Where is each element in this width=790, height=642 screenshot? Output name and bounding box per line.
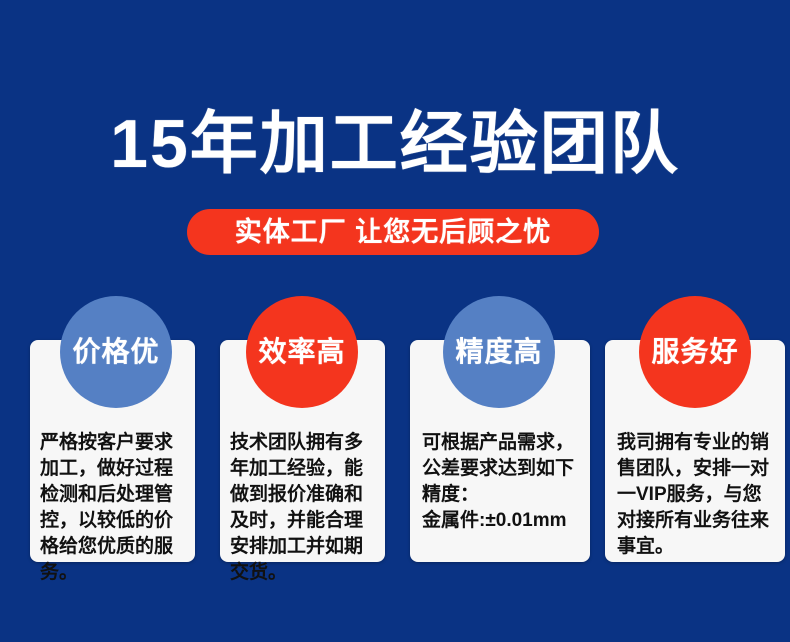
feature-card-body: 技术团队拥有多年加工经验，能做到报价准确和及时，并能合理安排加工并如期交货。 <box>230 430 375 586</box>
feature-card-badge-label: 精度高 <box>455 336 542 368</box>
feature-card-badge: 服务好 <box>639 296 751 408</box>
feature-card-badge: 效率高 <box>246 296 358 408</box>
feature-card-badge-label: 价格优 <box>72 336 159 368</box>
feature-card-body: 我司拥有专业的销售团队，安排一对一VIP服务，与您对接所有业务往来事宜。 <box>617 430 777 560</box>
feature-card-list: 严格按客户要求加工，做好过程检测和后处理管控，以较低的价格给您优质的服务。 价格… <box>0 296 790 576</box>
feature-card-badge-label: 效率高 <box>258 336 345 368</box>
feature-card-badge-label: 服务好 <box>651 336 738 368</box>
promo-banner: 15年加工经验团队 实体工厂 让您无后顾之忧 严格按客户要求加工，做好过程检测和… <box>0 0 790 642</box>
feature-card-body: 可根据产品需求，公差要求达到如下精度： 金属件:±0.01mm <box>422 430 582 534</box>
feature-card-badge: 价格优 <box>60 296 172 408</box>
subheadline-pill: 实体工厂 让您无后顾之忧 <box>187 209 599 255</box>
page-title: 15年加工经验团队 <box>0 104 790 184</box>
subheadline-text: 实体工厂 让您无后顾之忧 <box>235 217 552 247</box>
feature-card-body: 严格按客户要求加工，做好过程检测和后处理管控，以较低的价格给您优质的服务。 <box>40 430 185 586</box>
feature-card-badge: 精度高 <box>443 296 555 408</box>
